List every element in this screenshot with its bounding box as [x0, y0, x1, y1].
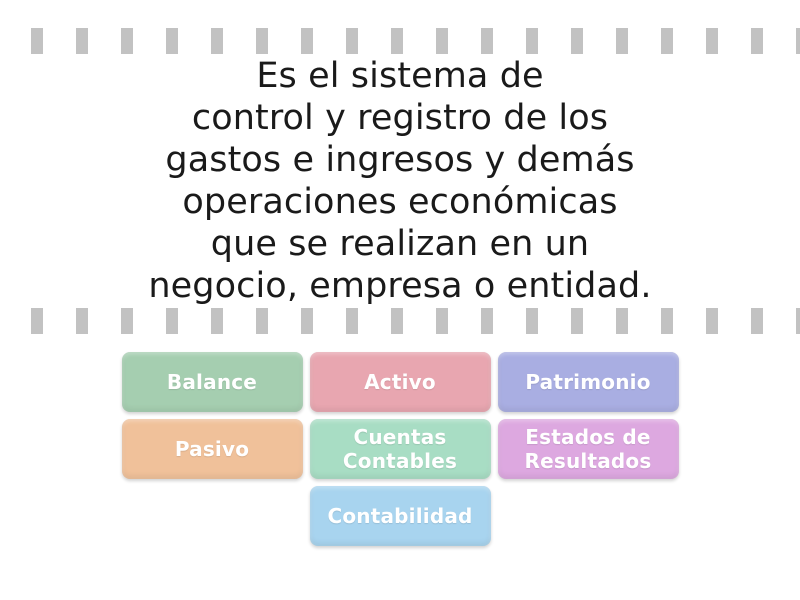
perforation-dash — [526, 28, 538, 54]
perforation-dash — [571, 308, 583, 334]
perforation-dash — [76, 28, 88, 54]
perforation-dash — [346, 308, 358, 334]
perforation-dash — [76, 308, 88, 334]
perforation-dash — [706, 308, 718, 334]
perforation-dash — [301, 308, 313, 334]
answer-tile-label: Pasivo — [175, 437, 249, 461]
perforation-dash — [211, 28, 223, 54]
answer-tile-cuentas-contables[interactable]: Cuentas Contables — [310, 419, 491, 479]
perforation-dash — [211, 308, 223, 334]
perforation-dash — [796, 308, 800, 334]
perforation-dash — [121, 308, 133, 334]
perforation-dash — [706, 28, 718, 54]
answer-tile-contabilidad[interactable]: Contabilidad — [310, 486, 491, 546]
answer-tile-label: Contabilidad — [327, 504, 472, 528]
answer-row-2: Pasivo Cuentas Contables Estados de Resu… — [0, 419, 800, 479]
perforation-dash — [616, 28, 628, 54]
perforation-dash — [751, 308, 763, 334]
perforation-dash — [436, 28, 448, 54]
perforation-dash — [346, 28, 358, 54]
perforation-strip-top — [0, 28, 800, 54]
answer-tile-patrimonio[interactable]: Patrimonio — [498, 352, 679, 412]
perforation-dash — [166, 308, 178, 334]
perforation-dash — [31, 28, 43, 54]
answer-options: Balance Activo Patrimonio Pasivo Cuentas… — [0, 352, 800, 553]
prompt-text: Es el sistema de control y registro de l… — [148, 55, 651, 307]
perforation-dash — [751, 28, 763, 54]
answer-tile-label: Cuentas Contables — [343, 425, 457, 473]
perforation-dash — [301, 28, 313, 54]
perforation-dash — [796, 28, 800, 54]
perforation-dash — [391, 28, 403, 54]
perforation-dash — [661, 28, 673, 54]
answer-row-1: Balance Activo Patrimonio — [0, 352, 800, 412]
answer-tile-estados-de-resultados[interactable]: Estados de Resultados — [498, 419, 679, 479]
perforation-dash — [391, 308, 403, 334]
perforation-dash — [256, 28, 268, 54]
perforation-dash — [256, 308, 268, 334]
perforation-strip-bottom — [0, 308, 800, 334]
perforation-dash — [436, 308, 448, 334]
perforation-dash — [121, 28, 133, 54]
perforation-dash — [571, 28, 583, 54]
perforation-dash — [481, 28, 493, 54]
perforation-dash — [661, 308, 673, 334]
answer-tile-activo[interactable]: Activo — [310, 352, 491, 412]
answer-tile-label: Activo — [364, 370, 436, 394]
perforation-dash — [166, 28, 178, 54]
prompt-card: Es el sistema de control y registro de l… — [0, 54, 800, 308]
perforation-dash — [481, 308, 493, 334]
answer-tile-pasivo[interactable]: Pasivo — [122, 419, 303, 479]
perforation-dash — [616, 308, 628, 334]
answer-row-3: Contabilidad — [0, 486, 800, 546]
perforation-dash — [526, 308, 538, 334]
answer-tile-label: Patrimonio — [525, 370, 650, 394]
perforation-dash — [31, 308, 43, 334]
answer-tile-label: Balance — [167, 370, 257, 394]
answer-tile-label: Estados de Resultados — [525, 425, 652, 473]
answer-tile-balance[interactable]: Balance — [122, 352, 303, 412]
